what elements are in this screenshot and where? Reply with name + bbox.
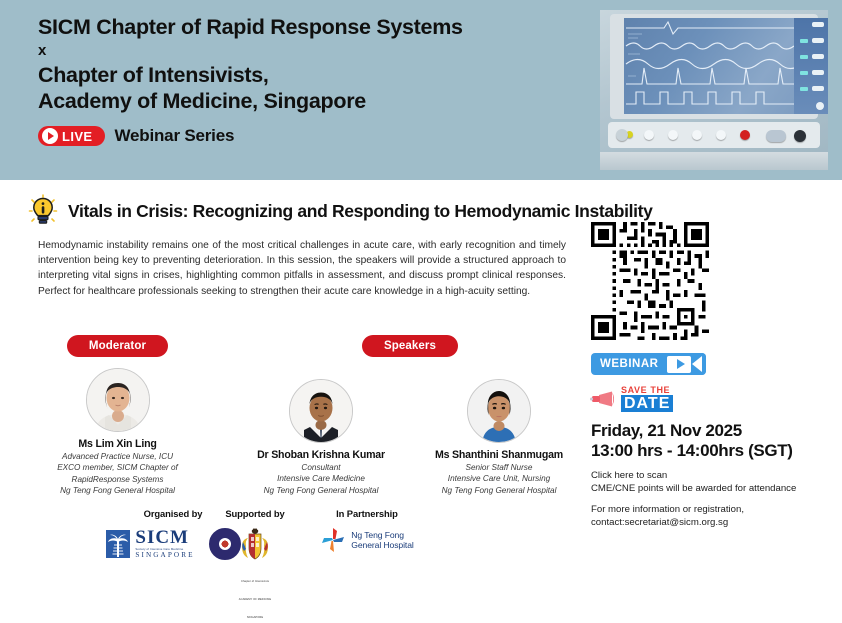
moderator-role-2: EXCO member, SICM Chapter of <box>45 463 190 473</box>
org-line-1: SICM Chapter of Rapid Response Systems <box>38 14 598 40</box>
save-the-date-bottom: DATE <box>621 395 673 412</box>
save-the-date-text: SAVE THE DATE <box>621 385 673 412</box>
moderator-name: Ms Lim Xin Ling <box>45 438 190 451</box>
avatar <box>467 379 531 443</box>
poster-footer: Organised by <box>0 500 842 595</box>
live-badge: LIVE <box>38 126 105 146</box>
event-date: Friday, 21 Nov 2025 <box>591 421 842 441</box>
moderator-portrait <box>87 369 149 431</box>
speaker-2-portrait <box>468 380 530 442</box>
in-partnership-group: In Partnership Ng Teng Fong General Hosp… <box>272 508 462 552</box>
avatar <box>289 379 353 443</box>
speakers-column: Speakers <box>240 335 580 496</box>
session-description: Hemodynamic instability remains one of t… <box>38 238 566 299</box>
academy-caption-2: ACADEMY OF MEDICINE SINGAPORE <box>239 598 271 619</box>
moderator-badge: Moderator <box>67 335 168 357</box>
academy-caption-1: Chapter of Intensivists <box>241 580 269 583</box>
webinar-button-label: WEBINAR <box>591 353 666 375</box>
vital-signs-monitor-image <box>600 10 828 170</box>
speaker-1-portrait <box>290 380 352 442</box>
header-org-block: SICM Chapter of Rapid Response Systems x… <box>38 14 598 146</box>
event-time: 13:00 hrs - 14:00hrs (SGT) <box>591 441 842 461</box>
ntfgh-logo: Ng Teng Fong General Hospital <box>320 528 413 552</box>
webinar-button[interactable]: WEBINAR <box>591 353 706 375</box>
org-line-2: Chapter of Intensivists, <box>38 62 598 88</box>
speaker-role-1: Senior Staff Nurse <box>419 463 579 473</box>
speakers-row: Dr Shoban Krishna Kumar Consultant Inten… <box>240 368 580 496</box>
speaker-name: Dr Shoban Krishna Kumar <box>241 449 401 462</box>
video-camera-icon <box>666 353 706 375</box>
registration-qr-code[interactable] <box>588 222 842 345</box>
webinar-series-label: Webinar Series <box>115 126 235 146</box>
registration-column: WEBINAR SAVE THE DATE Friday, 21 N <box>580 222 842 529</box>
scan-note-line-1: Click here to scan <box>591 470 842 483</box>
live-webinar-row: LIVE Webinar Series <box>38 126 598 146</box>
save-the-date-graphic: SAVE THE DATE <box>590 385 842 412</box>
qr-code-image[interactable] <box>591 222 709 340</box>
speaker-role-2: Intensive Care Unit, Nursing <box>419 474 579 484</box>
partnership-logos: Ng Teng Fong General Hospital <box>272 528 462 552</box>
ntfgh-line-2: General Hospital <box>351 540 413 551</box>
ecg-waveforms-icon <box>624 18 814 114</box>
moderator-role-3: RapidResponse Systems <box>45 475 190 485</box>
monitor-side-readouts <box>794 18 828 114</box>
sicm-palm-icon <box>105 529 131 559</box>
ntfgh-wordmark: Ng Teng Fong General Hospital <box>351 530 413 551</box>
ntfgh-line-1: Ng Teng Fong <box>351 530 413 541</box>
sicm-wordmark: SICM Society of Intensive Care Medicine … <box>135 528 194 560</box>
megaphone-icon <box>590 391 616 407</box>
ntfgh-pinwheel-icon <box>320 528 346 552</box>
scan-note-line-2: CME/CNE points will be awarded for atten… <box>591 483 842 496</box>
speaker-role-2: Intensive Care Medicine <box>241 474 401 484</box>
save-the-date-top: SAVE THE <box>621 385 673 395</box>
speaker-card: Ms Shanthini Shanmugam Senior Staff Nurs… <box>419 368 579 496</box>
moderator-role-1: Advanced Practice Nurse, ICU <box>45 452 190 462</box>
monitor-control-panel <box>608 122 820 148</box>
speaker-name: Ms Shanthini Shanmugam <box>419 449 579 462</box>
play-icon <box>42 128 58 144</box>
sicm-country: SINGAPORE <box>135 551 194 560</box>
session-title: Vitals in Crisis: Recognizing and Respon… <box>68 201 653 222</box>
speaker-role-3: Ng Teng Fong General Hospital <box>419 486 579 496</box>
live-label: LIVE <box>62 130 93 143</box>
in-partnership-label: In Partnership <box>272 508 462 519</box>
moderator-column: Moderator Ms Lim Xin Ling Advanced <box>45 335 190 497</box>
poster-header: SICM Chapter of Rapid Response Systems x… <box>0 0 842 180</box>
speaker-card: Dr Shoban Krishna Kumar Consultant Inten… <box>241 368 401 496</box>
monitor-screen <box>624 18 814 114</box>
speakers-badge: Speakers <box>362 335 458 357</box>
avatar <box>86 368 150 432</box>
speaker-role-1: Consultant <box>241 463 401 473</box>
monitor-base <box>600 152 828 170</box>
org-line-3: Academy of Medicine, Singapore <box>38 88 598 114</box>
academy-of-medicine-crest-icon: Chapter of Intensivists ACADEMY OF MEDIC… <box>235 528 275 623</box>
speaker-role-3: Ng Teng Fong General Hospital <box>241 486 401 496</box>
org-line-x: x <box>38 40 598 62</box>
scan-note: Click here to scan CME/CNE points will b… <box>591 470 842 495</box>
lightbulb-info-icon <box>28 194 58 228</box>
sicm-word: SICM <box>135 528 194 547</box>
event-datetime: Friday, 21 Nov 2025 13:00 hrs - 14:00hrs… <box>591 421 842 461</box>
session-title-row: Vitals in Crisis: Recognizing and Respon… <box>0 180 842 228</box>
poster-body: Vitals in Crisis: Recognizing and Respon… <box>0 180 842 595</box>
sicm-logo: SICM Society of Intensive Care Medicine … <box>105 528 194 560</box>
moderator-role-4: Ng Teng Fong General Hospital <box>45 486 190 496</box>
